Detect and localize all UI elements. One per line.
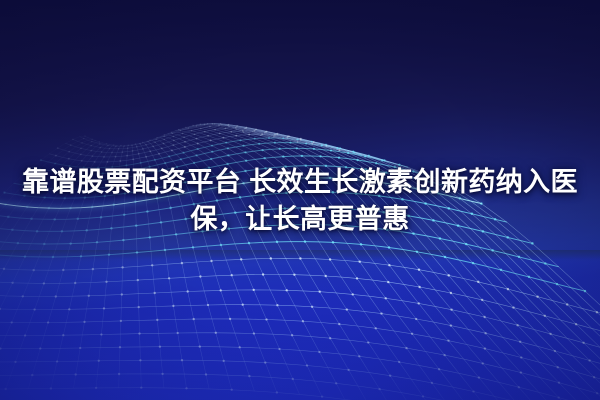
banner-root: 靠谱股票配资平台 长效生长激素创新药纳入医保，让长高更普惠 <box>0 0 600 400</box>
headline-text: 靠谱股票配资平台 长效生长激素创新药纳入医保，让长高更普惠 <box>22 167 578 234</box>
headline-block: 靠谱股票配资平台 长效生长激素创新药纳入医保，让长高更普惠 <box>0 164 600 238</box>
